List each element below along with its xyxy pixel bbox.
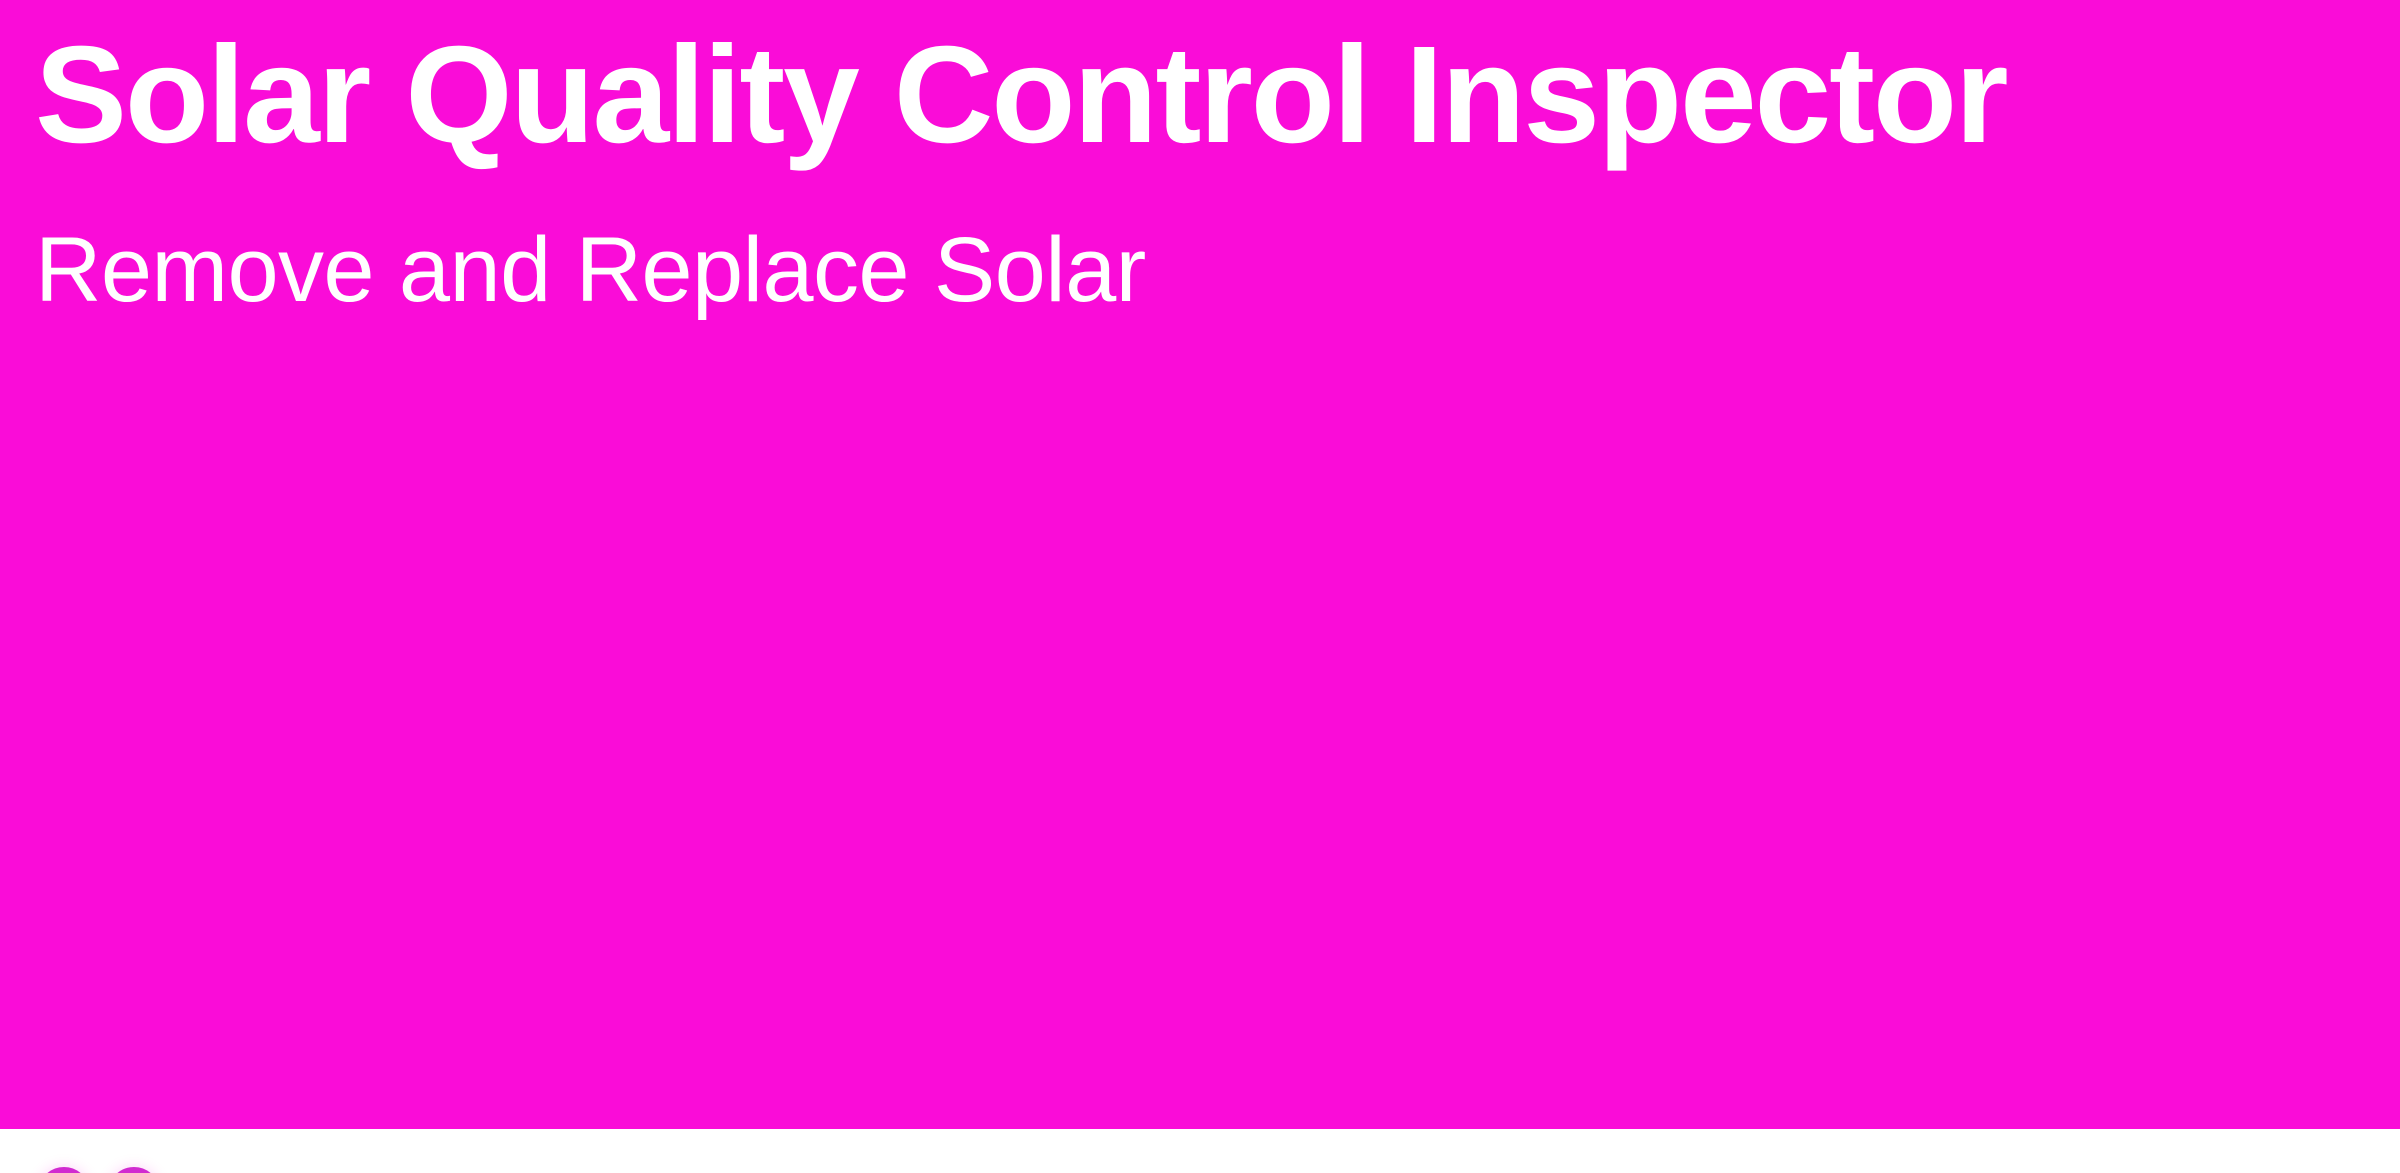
content-area [0,1129,2400,1173]
page-root: Solar Quality Control Inspector Remove a… [0,0,2400,1173]
step-marker-row [38,1167,160,1173]
step-marker-2[interactable] [108,1167,160,1173]
step-marker-1[interactable] [38,1167,90,1173]
page-subtitle: Remove and Replace Solar [35,224,1146,316]
page-title: Solar Quality Control Inspector [35,22,2006,168]
hero-banner: Solar Quality Control Inspector Remove a… [0,0,2400,1129]
